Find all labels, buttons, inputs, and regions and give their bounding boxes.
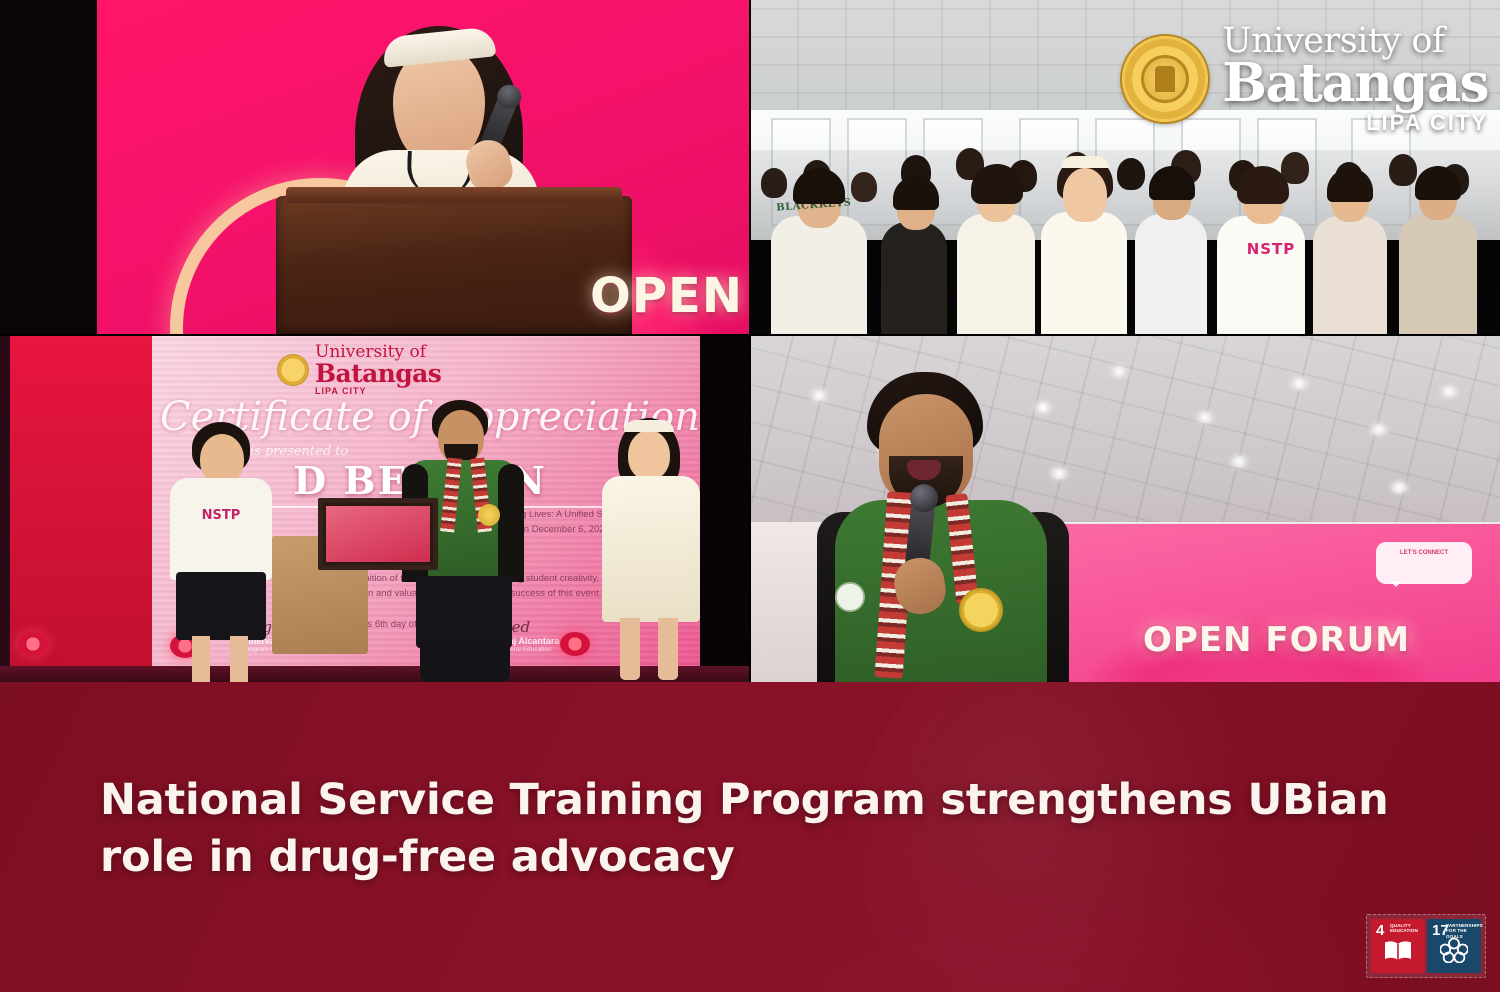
crowd-head <box>1117 158 1145 190</box>
news-poster: OPEN <box>0 0 1500 992</box>
page-title: National Service Training Program streng… <box>100 772 1410 886</box>
awardee-vest-patch <box>478 504 500 526</box>
photo-certificate-awarding: University of Batangas LIPA CITY Certifi… <box>0 336 749 682</box>
brand-line-lipa-city: LIPA CITY <box>1222 112 1488 134</box>
speech-bubble-text: LET'S CONNECT <box>1376 542 1472 556</box>
brand-line-batangas: Batangas <box>1222 57 1488 110</box>
university-seal-icon <box>278 355 308 385</box>
red-side-panel <box>10 336 152 668</box>
university-seal-icon <box>1122 36 1208 122</box>
crowd-head <box>1389 154 1417 186</box>
nstp-shirt-text: NSTP <box>190 508 252 523</box>
sdg-title: Quality Education <box>1390 923 1422 934</box>
official-figure <box>596 418 706 682</box>
presenter-face <box>200 434 244 484</box>
photo-left-letterbox <box>0 0 97 334</box>
certificate-screen-logo: University of Batangas LIPA CITY <box>278 344 441 396</box>
front-person-body <box>1041 212 1127 334</box>
open-forum-overlay-text: OPEN FORUM <box>1143 620 1410 660</box>
ceiling-light <box>1111 366 1127 377</box>
photo-right-letterbox <box>700 336 749 668</box>
sdg-badge-4: 4 Quality Education <box>1371 919 1425 973</box>
vest-side-patch <box>835 582 865 612</box>
sdg-number: 4 <box>1376 923 1384 938</box>
ceiling-light <box>1197 412 1213 423</box>
sdg-badge-group: 4 Quality Education 17 Partnerships for … <box>1366 914 1486 978</box>
framed-certificate <box>318 498 438 570</box>
wooden-podium <box>276 196 632 334</box>
ceiling-light <box>1441 386 1457 397</box>
front-person-body <box>1313 216 1387 334</box>
front-person-body <box>1217 216 1305 334</box>
ceiling-light <box>1371 424 1387 435</box>
presenter-leg <box>230 636 248 682</box>
awardee-presenter-figure: NSTP <box>168 422 274 682</box>
front-person-body <box>1135 214 1207 334</box>
front-person-body <box>881 222 947 334</box>
awardee-trousers <box>416 576 512 648</box>
photo-podium-speaker: OPEN <box>0 0 749 334</box>
sdg-badge-17: 17 Partnerships for the Goals <box>1427 919 1481 973</box>
official-leg <box>658 618 678 680</box>
crowd-head <box>761 168 787 198</box>
presenter-skirt <box>176 572 266 640</box>
front-person-body <box>957 214 1035 334</box>
awardee-sleeve <box>498 464 524 582</box>
seal-torch-mark <box>1155 66 1175 92</box>
presenter-shirt <box>170 478 272 580</box>
framed-certificate-face <box>326 506 430 562</box>
nstp-shirt-text: NSTP <box>1241 240 1301 258</box>
university-brand-lockup: University of Batangas LIPA CITY <box>1122 24 1488 134</box>
open-overlay-text: OPEN <box>590 268 743 324</box>
interlocking-circles-icon <box>1427 937 1481 968</box>
front-person-headband <box>1061 156 1109 168</box>
front-person-body <box>771 216 867 334</box>
cert-logo-line2: Batangas <box>315 361 441 386</box>
official-face <box>628 430 670 480</box>
screen-speech-bubble: LET'S CONNECT <box>1376 542 1472 584</box>
awardee-lower-legs <box>420 640 510 682</box>
official-leg <box>620 618 640 680</box>
official-headband <box>624 420 674 432</box>
ceiling-light <box>1291 378 1307 389</box>
ceiling-light <box>1231 456 1247 467</box>
front-person-face <box>1063 168 1107 222</box>
front-person-body <box>1399 214 1477 334</box>
vest-gold-patch <box>961 590 1001 630</box>
official-dress <box>602 476 700 622</box>
open-book-icon <box>1371 939 1425 968</box>
ceiling-light <box>1391 482 1407 493</box>
university-wordmark: University of Batangas LIPA CITY <box>1222 24 1488 134</box>
stage-light <box>18 632 48 656</box>
presenter-leg <box>192 636 210 682</box>
open-forum-speaker-figure <box>811 372 1101 682</box>
stage-light <box>560 632 590 656</box>
photo-collage: OPEN <box>0 0 1500 682</box>
photo-open-forum-speaker: LET'S CONNECT OPEN FORUM <box>751 336 1500 682</box>
